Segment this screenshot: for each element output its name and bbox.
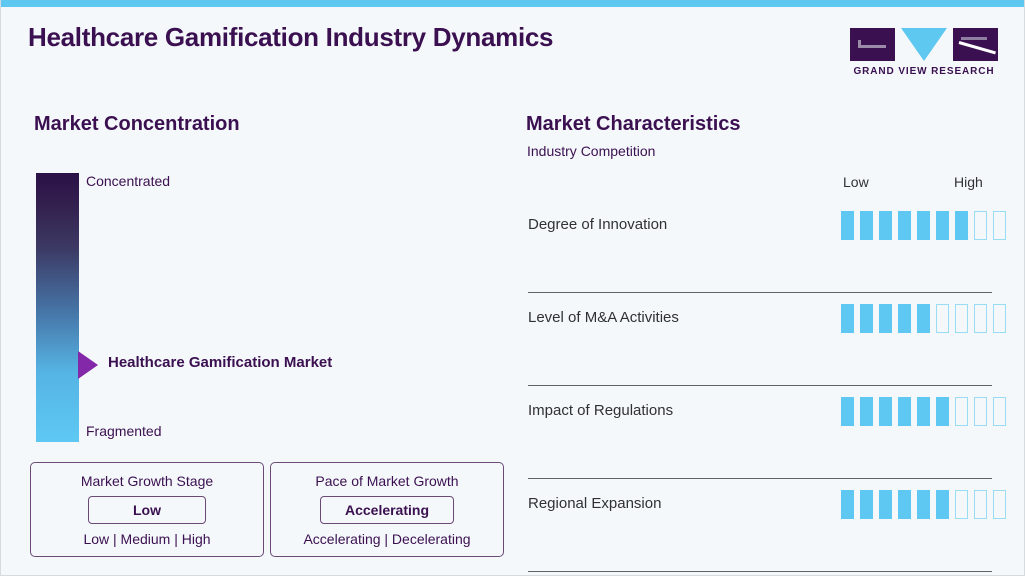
meter-segment-filled (898, 211, 911, 240)
top-accent-bar (1, 0, 1025, 7)
meter-segment-filled (917, 490, 930, 519)
meter-segment-empty (974, 304, 987, 333)
market-characteristics-title: Market Characteristics (526, 113, 741, 136)
characteristic-label: Impact of Regulations (528, 402, 673, 419)
characteristic-row: Level of M&A Activities (528, 293, 992, 386)
characteristic-row: Regional Expansion (528, 479, 992, 572)
meter-segment-empty (955, 490, 968, 519)
meter-segment-empty (993, 211, 1006, 240)
market-growth-stage-value: Low (88, 496, 206, 524)
logo-marks (850, 28, 998, 61)
meter-segment-filled (936, 397, 949, 426)
market-characteristics-subtitle: Industry Competition (527, 143, 655, 159)
pace-of-market-growth-scale: Accelerating | Decelerating (303, 531, 470, 547)
meter-segment-filled (898, 490, 911, 519)
logo-block-right-icon (953, 28, 998, 61)
meter-segment-filled (841, 397, 854, 426)
meter-segment-filled (879, 397, 892, 426)
market-growth-stage-box: Market Growth Stage Low Low | Medium | H… (30, 462, 264, 557)
pace-of-market-growth-title: Pace of Market Growth (315, 473, 458, 489)
logo-triangle-icon (901, 28, 947, 61)
pace-of-market-growth-box: Pace of Market Growth Accelerating Accel… (270, 462, 504, 557)
meter-segment-filled (917, 397, 930, 426)
meter-segment-filled (898, 397, 911, 426)
characteristic-row: Impact of Regulations (528, 386, 992, 479)
meter-segment-empty (974, 490, 987, 519)
meter-segment-filled (860, 490, 873, 519)
characteristic-label: Level of M&A Activities (528, 309, 679, 326)
meter-segment-filled (860, 304, 873, 333)
characteristics-rows: Degree of InnovationLevel of M&A Activit… (528, 200, 992, 572)
market-position-label: Healthcare Gamification Market (108, 354, 332, 371)
scale-high-label: High (954, 174, 983, 190)
logo-wordmark: GRAND VIEW RESEARCH (850, 66, 998, 77)
characteristic-meter (841, 490, 1006, 519)
market-growth-stage-scale: Low | Medium | High (83, 531, 210, 547)
characteristic-meter (841, 211, 1006, 240)
meter-segment-filled (955, 211, 968, 240)
characteristic-meter (841, 397, 1006, 426)
meter-segment-filled (841, 304, 854, 333)
meter-segment-empty (993, 397, 1006, 426)
market-concentration-title: Market Concentration (34, 113, 240, 136)
row-divider (528, 571, 992, 572)
meter-segment-empty (993, 304, 1006, 333)
meter-segment-filled (917, 211, 930, 240)
meter-segment-filled (879, 490, 892, 519)
meter-segment-filled (879, 304, 892, 333)
concentration-bottom-label: Fragmented (86, 423, 161, 439)
meter-segment-filled (860, 211, 873, 240)
meter-segment-empty (955, 304, 968, 333)
market-position-marker-icon (78, 351, 98, 379)
infographic-poster: Healthcare Gamification Industry Dynamic… (0, 0, 1025, 576)
meter-segment-filled (936, 490, 949, 519)
market-growth-stage-title: Market Growth Stage (81, 473, 213, 489)
meter-segment-filled (879, 211, 892, 240)
characteristic-label: Degree of Innovation (528, 216, 667, 233)
meter-segment-filled (841, 490, 854, 519)
characteristic-meter (841, 304, 1006, 333)
meter-segment-filled (898, 304, 911, 333)
meter-segment-empty (993, 490, 1006, 519)
concentration-top-label: Concentrated (86, 173, 170, 189)
meter-segment-empty (936, 304, 949, 333)
meter-segment-filled (860, 397, 873, 426)
meter-segment-filled (841, 211, 854, 240)
meter-segment-filled (917, 304, 930, 333)
company-logo: GRAND VIEW RESEARCH (850, 28, 998, 77)
concentration-gradient-bar (36, 173, 79, 442)
logo-block-left-icon (850, 28, 895, 61)
scale-low-label: Low (843, 174, 869, 190)
meter-segment-empty (974, 211, 987, 240)
meter-segment-empty (955, 397, 968, 426)
characteristic-row: Degree of Innovation (528, 200, 992, 293)
page-title: Healthcare Gamification Industry Dynamic… (28, 22, 553, 53)
pace-of-market-growth-value: Accelerating (320, 496, 454, 524)
meter-segment-filled (936, 211, 949, 240)
characteristic-label: Regional Expansion (528, 495, 661, 512)
meter-segment-empty (974, 397, 987, 426)
